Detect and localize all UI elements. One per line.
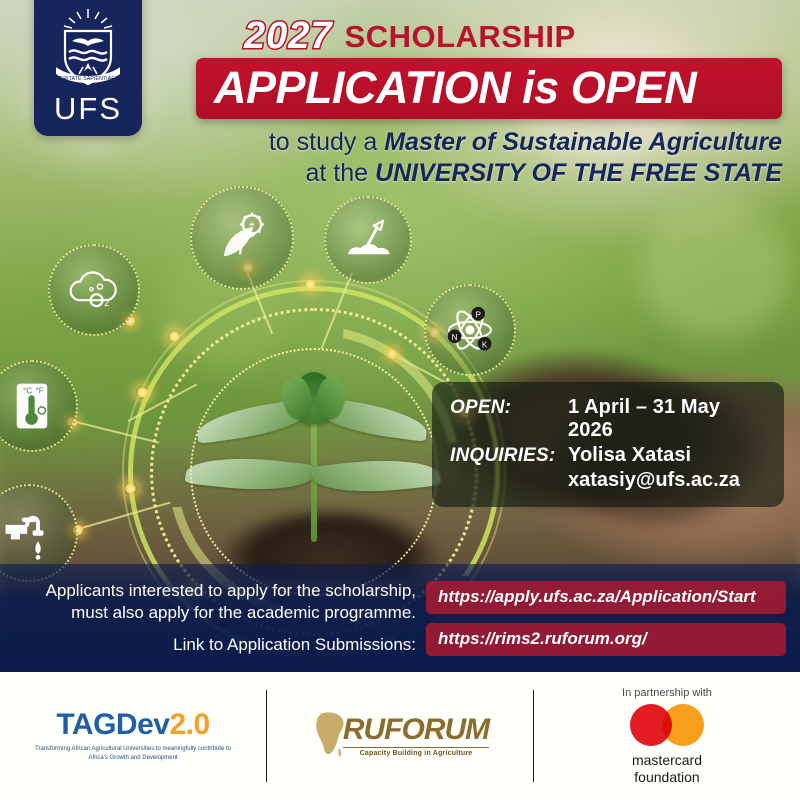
scholarship-poster: 2 P N K xyxy=(0,0,800,800)
tagdev-tagline: Transforming African Agricultural Univer… xyxy=(33,745,233,763)
programme-name: Master of Sustainable Agriculture xyxy=(384,128,782,156)
bokeh-light xyxy=(640,200,790,340)
inquiries-name: Yolisa Xatasi xyxy=(568,444,691,467)
inquiries-email[interactable]: xatasiy@ufs.ac.za xyxy=(568,469,768,492)
svg-text:°C: °C xyxy=(23,386,32,395)
mastercard-foundation-logo: In partnership with mastercard foundatio… xyxy=(534,672,800,800)
partner-footer: TAGDev2.0 Transforming African Agricultu… xyxy=(0,672,800,800)
co2-cloud-icon: 2 xyxy=(48,244,140,336)
ufs-logo-badge: IN VERITATE SAPIENTIAE LUX UFS xyxy=(34,0,142,136)
headline-block: 2027 SCHOLARSHIP APPLICATION is OPEN to … xyxy=(196,18,782,188)
open-value: 1 April – 31 May 2026 xyxy=(568,396,768,442)
svg-text:2: 2 xyxy=(104,298,109,308)
inquiries-label: INQUIRIES: xyxy=(450,445,568,467)
svg-text:P: P xyxy=(475,310,481,319)
note-line-1: Applicants interested to apply for the s… xyxy=(18,580,416,602)
mastercard-line-1: mastercard xyxy=(632,752,702,768)
partnership-label: In partnership with xyxy=(622,687,712,699)
tagdev-version: 2.0 xyxy=(169,708,209,741)
crest-motto: IN VERITATE SAPIENTIAE LUX xyxy=(50,76,126,82)
svg-text:°F: °F xyxy=(36,386,44,395)
application-open-banner: APPLICATION is OPEN xyxy=(196,58,782,119)
application-url-pill[interactable]: https://apply.ufs.ac.za/Application/Star… xyxy=(426,581,786,614)
application-note: Applicants interested to apply for the s… xyxy=(18,580,416,655)
tagdev-logo: TAGDev2.0 Transforming African Agricultu… xyxy=(0,672,266,800)
connector-node xyxy=(386,348,398,360)
tagdev-wordmark: TAGDev2.0 xyxy=(56,710,209,740)
subline-institution: at the UNIVERSITY OF THE FREE STATE xyxy=(196,158,782,188)
scholarship-label: SCHOLARSHIP xyxy=(345,21,576,54)
subline-prefix: to study a xyxy=(269,128,384,156)
submissions-url-pill[interactable]: https://rims2.ruforum.org/ xyxy=(426,623,786,656)
leaf-gear-icon xyxy=(190,186,294,290)
soil-shovel-icon xyxy=(324,196,412,284)
subline-prefix: at the xyxy=(306,159,376,187)
tagdev-name: TAGDev xyxy=(56,708,169,741)
ruforum-wordmark: RUFORUM xyxy=(343,715,489,745)
mastercard-circles-icon xyxy=(630,704,704,746)
mastercard-line-2: foundation xyxy=(632,769,702,785)
note-line-3: Link to Application Submissions: xyxy=(18,634,416,656)
application-open-text: APPLICATION is OPEN xyxy=(214,65,766,110)
inquiries-row: INQUIRIES: Yolisa Xatasi xyxy=(450,444,768,467)
ruforum-logo: RUFORUM Capacity Building in Agriculture xyxy=(267,672,533,800)
mastercard-yellow-circle xyxy=(662,704,704,746)
seedling-bud xyxy=(292,372,336,424)
svg-text:N: N xyxy=(452,333,458,342)
ruforum-tagline: Capacity Building in Agriculture xyxy=(343,747,489,757)
mastercard-wordmark: mastercard foundation xyxy=(632,752,702,784)
institution-name: UNIVERSITY OF THE FREE STATE xyxy=(375,159,782,187)
url-pill-group: https://apply.ufs.ac.za/Application/Star… xyxy=(426,581,786,656)
open-label: OPEN: xyxy=(450,397,568,419)
year-row: 2027 SCHOLARSHIP xyxy=(196,18,782,54)
note-line-2: must also apply for the academic program… xyxy=(18,602,416,624)
year-text: 2027 xyxy=(244,18,333,54)
ufs-wordmark: UFS xyxy=(54,93,122,124)
svg-text:K: K xyxy=(482,340,488,349)
info-panel: OPEN: 1 April – 31 May 2026 INQUIRIES: Y… xyxy=(432,382,784,507)
npk-atom-icon: P N K xyxy=(424,284,516,376)
application-links-band: Applicants interested to apply for the s… xyxy=(0,564,800,672)
subline-programme: to study a Master of Sustainable Agricul… xyxy=(196,127,782,157)
open-row: OPEN: 1 April – 31 May 2026 xyxy=(450,396,768,442)
ufs-crest-icon: IN VERITATE SAPIENTIAE LUX xyxy=(50,5,126,93)
